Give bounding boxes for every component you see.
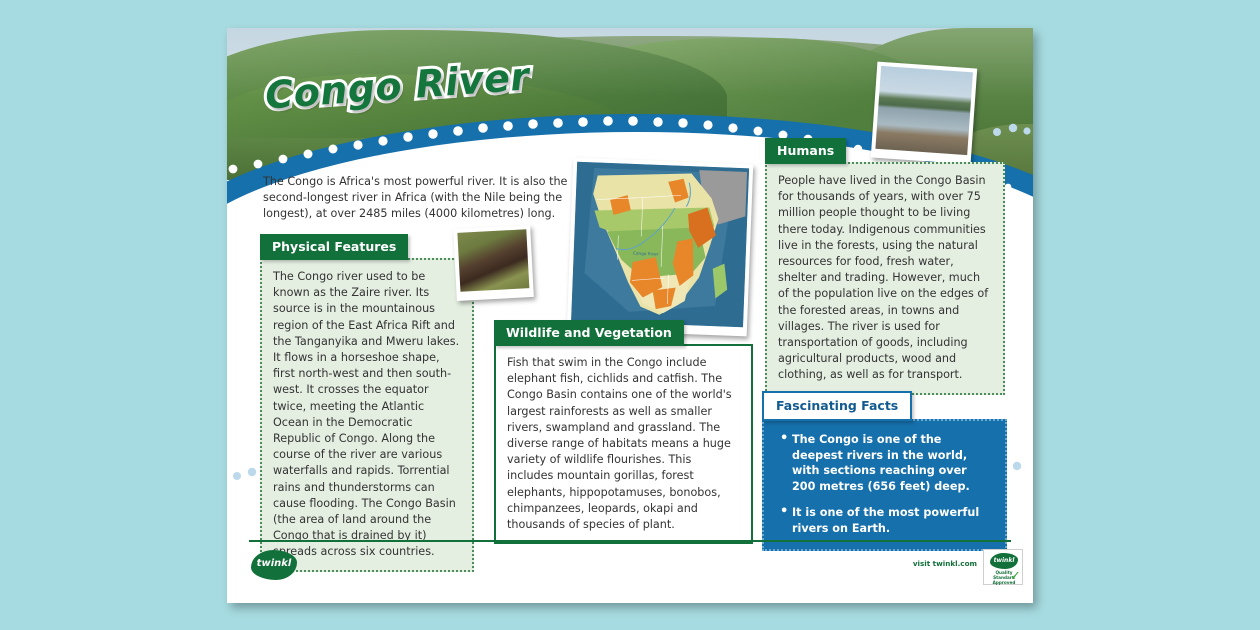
section-heading-physical-features: Physical Features bbox=[260, 234, 408, 260]
section-body-wildlife-and-vegetation: Fish that swim in the Congo include elep… bbox=[494, 344, 753, 544]
section-humans: Humans People have lived in the Congo Ba… bbox=[765, 138, 1005, 395]
map-africa-vegetation-image: Congo River bbox=[571, 162, 749, 327]
twinkl-logo-text: twinkl bbox=[251, 558, 297, 569]
section-body-fascinating-facts: The Congo is one of the deepest rivers i… bbox=[762, 419, 1007, 551]
footer-divider bbox=[249, 540, 1011, 542]
fascinating-facts-list: The Congo is one of the deepest rivers i… bbox=[778, 432, 993, 537]
photo-okapi-image bbox=[457, 229, 529, 292]
twinkl-logo: twinkl bbox=[251, 550, 297, 580]
visit-twinkl-link[interactable]: visit twinkl.com bbox=[913, 559, 977, 568]
check-icon: ✓ bbox=[1010, 571, 1020, 583]
twinkl-approved-badge: twinkl Quality Standard Approved ✓ bbox=[983, 549, 1023, 585]
intro-paragraph: The Congo is Africa's most powerful rive… bbox=[263, 174, 568, 223]
section-heading-humans: Humans bbox=[765, 138, 846, 164]
section-body-physical-features: The Congo river used to be known as the … bbox=[260, 258, 474, 572]
list-item: It is one of the most powerful rivers on… bbox=[778, 505, 993, 536]
section-heading-fascinating-facts: Fascinating Facts bbox=[762, 391, 912, 421]
photo-okapi bbox=[453, 225, 534, 301]
badge-logo-text: twinkl bbox=[990, 557, 1018, 564]
svg-text:Congo River: Congo River bbox=[633, 251, 659, 257]
list-item: The Congo is one of the deepest rivers i… bbox=[778, 432, 993, 494]
section-heading-wildlife-and-vegetation: Wildlife and Vegetation bbox=[494, 320, 684, 346]
section-physical-features: Physical Features The Congo river used t… bbox=[260, 234, 474, 572]
section-body-humans: People have lived in the Congo Basin for… bbox=[765, 162, 1005, 395]
worksheet-page: Congo River bbox=[227, 28, 1033, 603]
section-fascinating-facts: Fascinating Facts The Congo is one of th… bbox=[762, 391, 1007, 551]
map-africa-vegetation: Congo River bbox=[567, 158, 753, 337]
section-wildlife-and-vegetation: Wildlife and Vegetation Fish that swim i… bbox=[494, 320, 753, 544]
